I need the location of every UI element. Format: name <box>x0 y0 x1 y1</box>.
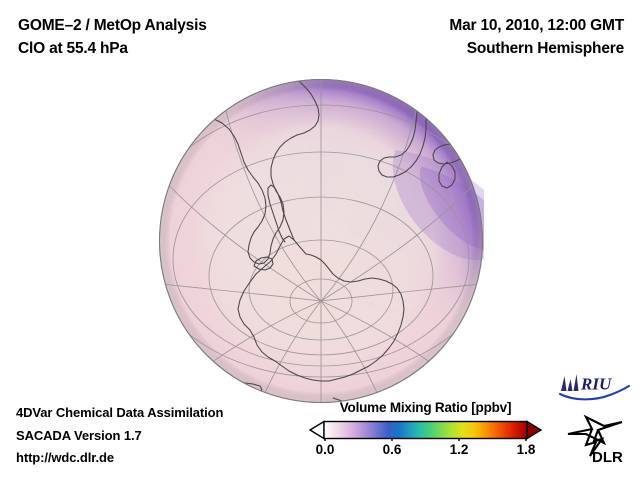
footer-left: 4DVar Chemical Data Assimilation SACADA … <box>16 402 306 470</box>
riu-logo: RIU <box>558 372 632 402</box>
coastline-subantarctic-island <box>205 378 218 386</box>
colorbar-bar <box>324 422 527 439</box>
header-right: Mar 10, 2010, 12:00 GMT Southern Hemisph… <box>324 14 624 60</box>
version-label: SACADA Version 1.7 <box>16 425 306 448</box>
dlr-logo: DLR <box>562 412 632 464</box>
globe-map <box>158 78 484 404</box>
hemisphere-label: Southern Hemisphere <box>324 37 624 60</box>
analysis-title: GOME–2 / MetOp Analysis <box>18 14 348 37</box>
timestamp-label: Mar 10, 2010, 12:00 GMT <box>324 14 624 37</box>
orthographic-projection-svg <box>158 78 484 404</box>
header-left: GOME–2 / MetOp Analysis ClO at 55.4 hPa <box>18 14 348 60</box>
colorbar-tick-3: 1.8 <box>517 442 536 457</box>
colorbar-gradient <box>308 419 543 441</box>
method-label: 4DVar Chemical Data Assimilation <box>16 402 306 425</box>
colorbar-tick-1: 0.6 <box>383 442 402 457</box>
riu-wordmark: RIU <box>580 375 612 394</box>
riu-building-icon <box>561 374 579 391</box>
colorbar-title: Volume Mixing Ratio [ppbv] <box>308 400 543 415</box>
url-label: http://wdc.dlr.de <box>16 447 306 470</box>
colorbar-extend-high-arrow <box>527 422 541 439</box>
colorbar-extend-low-arrow <box>310 422 324 439</box>
species-level-subtitle: ClO at 55.4 hPa <box>18 37 348 60</box>
dlr-wordmark: DLR <box>592 449 623 464</box>
colorbar-tick-labels: 0.0 0.6 1.2 1.8 <box>308 442 543 460</box>
colorbar: Volume Mixing Ratio [ppbv] <box>308 400 543 460</box>
colorbar-tick-0: 0.0 <box>316 442 335 457</box>
colorbar-tick-2: 1.2 <box>450 442 469 457</box>
